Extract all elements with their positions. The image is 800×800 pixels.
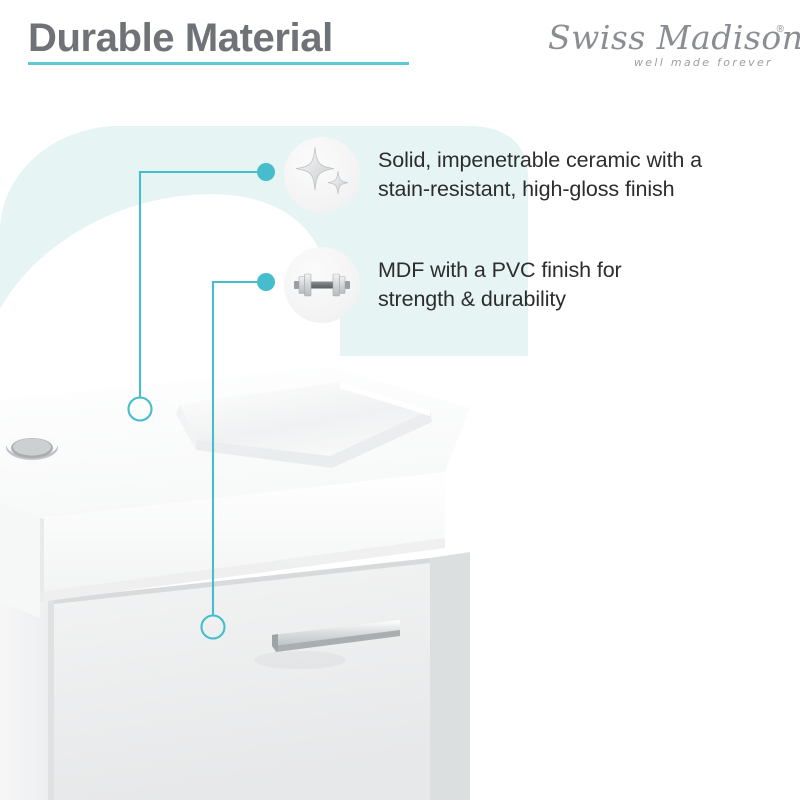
leader-line-2 [213, 282, 266, 616]
sparkle-icon [284, 137, 360, 213]
callout-text: MDF with a PVC finish for strength & dur… [378, 256, 622, 314]
callout-mdf: MDF with a PVC finish for strength & dur… [284, 247, 622, 323]
callout-text: Solid, impenetrable ceramic with a stain… [378, 146, 702, 204]
dumbbell-icon-badge [284, 247, 360, 323]
sparkle-icon-badge [284, 137, 360, 213]
infographic-page: Durable Material Swiss Madison ® well ma… [0, 0, 800, 800]
leader-endpoint-ring-2 [202, 616, 225, 639]
leader-lines [0, 0, 800, 800]
dumbbell-icon [284, 247, 360, 323]
leader-dot-2 [257, 273, 275, 291]
leader-line-1 [140, 172, 266, 398]
leader-endpoint-ring-1 [129, 398, 152, 421]
leader-dot-1 [257, 163, 275, 181]
callout-ceramic: Solid, impenetrable ceramic with a stain… [284, 137, 702, 213]
